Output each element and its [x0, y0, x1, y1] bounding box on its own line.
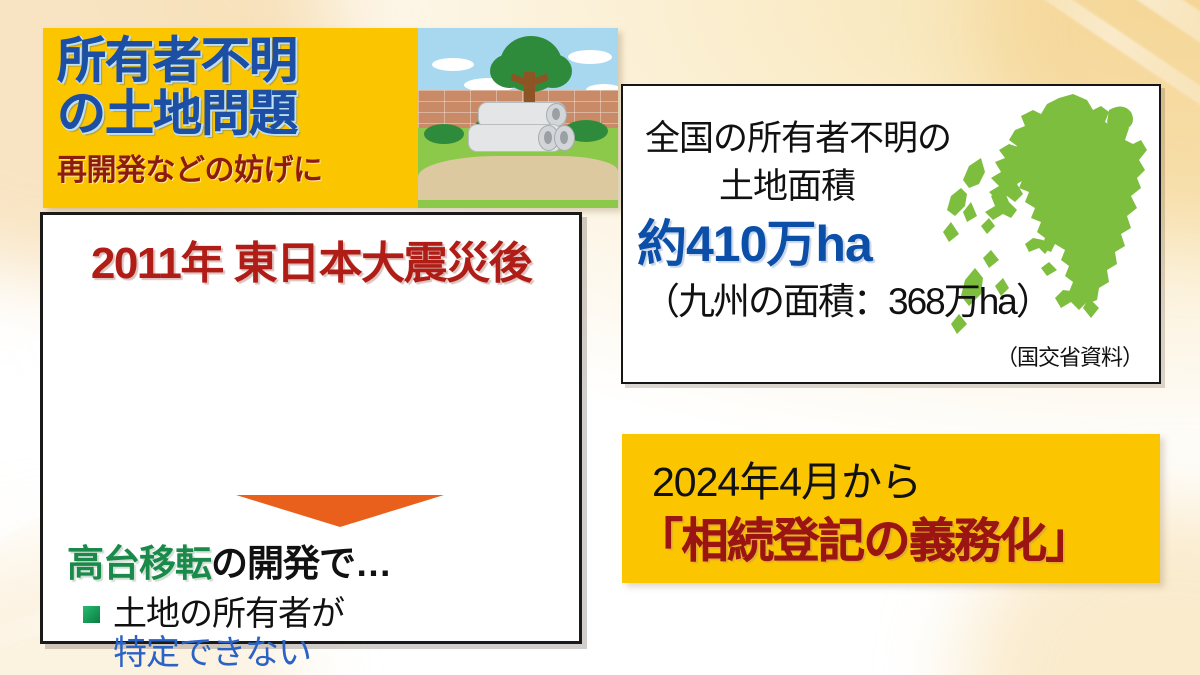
stat-line-2: 土地面積	[719, 158, 855, 209]
list-item-text: 土地の所有者が 特定できない	[113, 595, 344, 674]
vacant-land-illustration	[418, 28, 618, 208]
list-item: 土地の所有者が 特定できない	[83, 595, 569, 674]
bush-icon	[424, 124, 464, 144]
pipe-hole	[560, 131, 568, 144]
title-line-2: の土地問題	[57, 90, 418, 138]
bullet-1-segment-2: 特定できない	[113, 634, 311, 672]
pipe-hole	[552, 108, 560, 120]
earthquake-info-panel: 2011年 東日本大震災後 高台移転の開発で… 土地の所有者が 特定できない 明…	[40, 212, 582, 644]
subheading-rest: の開発で…	[211, 543, 391, 584]
bullet-1-segment-1: 土地の所有者が	[113, 595, 344, 633]
down-arrow-icon	[236, 495, 444, 527]
notice-line-1: 2024年4月から	[652, 448, 921, 508]
title-subtitle: 再開発などの妨げに	[57, 145, 418, 189]
panel-subheading: 高台移転の開発で…	[67, 533, 391, 587]
graphic-canvas: 所有者不明 の土地問題 再開発などの妨げに	[0, 0, 1200, 675]
title-text-column: 所有者不明 の土地問題 再開発などの妨げに	[43, 28, 418, 208]
notice-line-2: 「相続登記の義務化」	[636, 502, 1091, 571]
dirt-patch	[418, 156, 618, 194]
pipe-hole	[544, 131, 552, 144]
stat-comparison: （九州の面積：368万ha）	[643, 271, 1051, 325]
subheading-highlight: 高台移転	[67, 543, 211, 584]
title-line-1: 所有者不明	[57, 37, 418, 85]
stat-line-1: 全国の所有者不明の	[645, 110, 951, 161]
law-change-notice: 2024年4月から 「相続登記の義務化」	[622, 434, 1160, 583]
cloud-icon	[432, 58, 474, 71]
bullet-list: 土地の所有者が 特定できない 明治時代の名義のまま 放置されている土地が 多数存…	[83, 595, 569, 675]
cloud-icon	[568, 50, 612, 64]
area-statistics-panel: 全国の所有者不明の 土地面積 約410万ha （九州の面積：368万ha） （国…	[621, 84, 1161, 384]
square-bullet-icon	[83, 606, 100, 623]
kyushu-map-icon	[941, 92, 1151, 372]
title-banner: 所有者不明 の土地問題 再開発などの妨げに	[43, 28, 618, 208]
stat-big-value: 約410万ha	[637, 204, 872, 276]
tree-trunk	[524, 72, 535, 106]
panel-heading: 2011年 東日本大震災後	[43, 227, 579, 291]
stat-source-note: （国交省資料）	[996, 340, 1143, 372]
